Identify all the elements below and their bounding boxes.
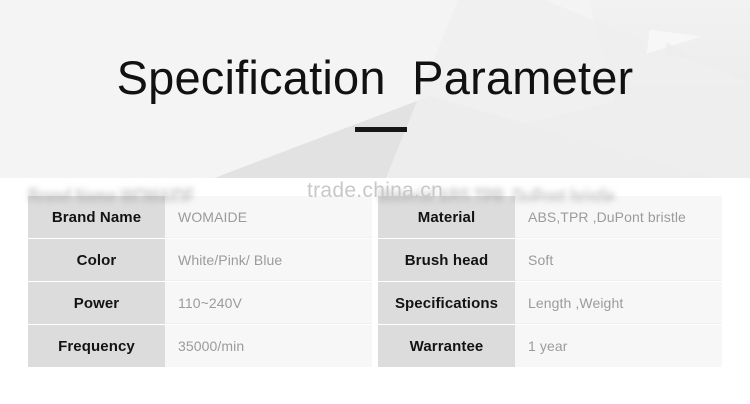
spec-value-cell: Length ,Weight xyxy=(515,282,722,324)
spec-label-cell: Power xyxy=(28,282,165,324)
spec-value-cell: ABS,TPR ,DuPont bristle xyxy=(515,196,722,238)
spec-label-cell: Specifications xyxy=(378,282,515,324)
spec-label-cell: Material xyxy=(378,196,515,238)
spec-value-cell: 1 year xyxy=(515,325,722,367)
spec-table-left: Brand NameWOMAIDEColorWhite/Pink/ BluePo… xyxy=(28,196,372,366)
table-row: Brand NameWOMAIDE xyxy=(28,196,372,238)
header-banner: Specification Parameter xyxy=(0,0,750,178)
specification-tables: Brand NameWOMAIDEColorWhite/Pink/ BluePo… xyxy=(0,196,750,366)
spec-label-cell: Warrantee xyxy=(378,325,515,367)
spec-value-cell: 35000/min xyxy=(165,325,372,367)
spec-label-cell: Brush head xyxy=(378,239,515,281)
spec-value-cell: White/Pink/ Blue xyxy=(165,239,372,281)
spec-value-cell: WOMAIDE xyxy=(165,196,372,238)
table-row: Power110~240V xyxy=(28,282,372,324)
table-row: Frequency35000/min xyxy=(28,325,372,367)
table-row: MaterialABS,TPR ,DuPont bristle xyxy=(378,196,722,238)
title-divider-rule xyxy=(355,127,407,132)
spec-label-cell: Frequency xyxy=(28,325,165,367)
spec-label-cell: Color xyxy=(28,239,165,281)
page-title: Specification Parameter xyxy=(0,50,750,106)
spec-value-cell: Soft xyxy=(515,239,722,281)
spec-value-cell: 110~240V xyxy=(165,282,372,324)
table-row: Warrantee1 year xyxy=(378,325,722,367)
spec-table-right: MaterialABS,TPR ,DuPont bristleBrush hea… xyxy=(378,196,722,366)
spec-label-cell: Brand Name xyxy=(28,196,165,238)
table-row: ColorWhite/Pink/ Blue xyxy=(28,239,372,281)
table-row: SpecificationsLength ,Weight xyxy=(378,282,722,324)
table-row: Brush headSoft xyxy=(378,239,722,281)
specification-parameter-page: Specification Parameter trade.china.cn B… xyxy=(0,0,750,404)
